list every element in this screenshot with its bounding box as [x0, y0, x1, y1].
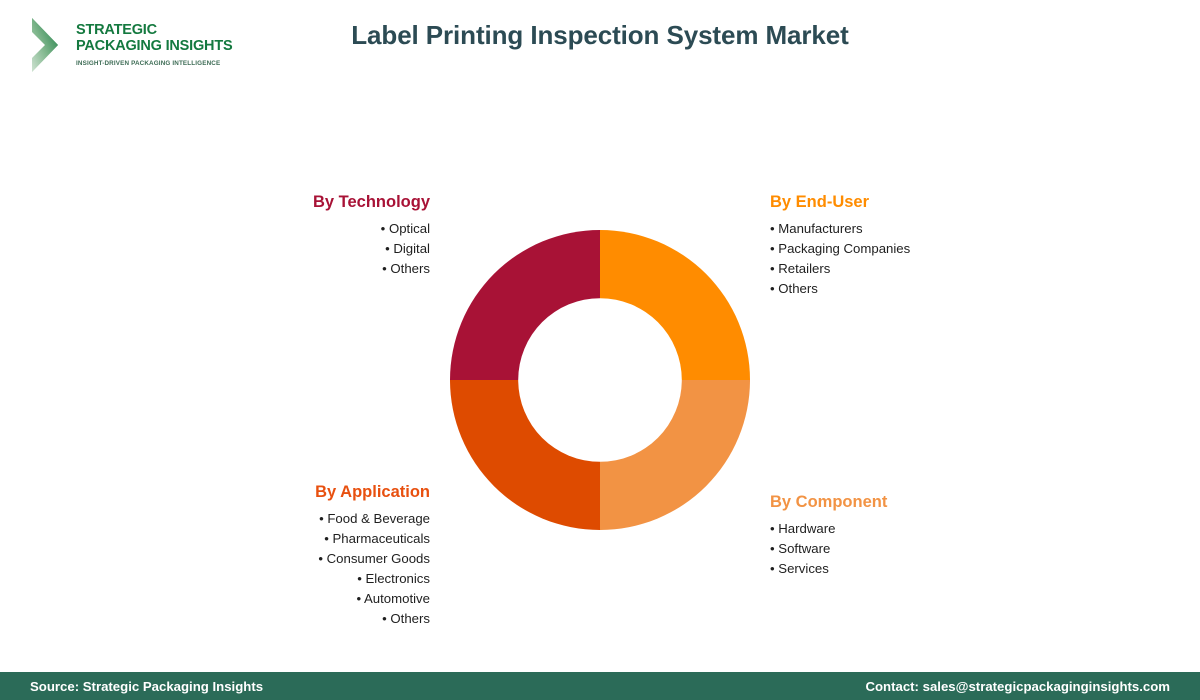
bullet-icon: • — [381, 221, 389, 236]
bullet-icon: • — [324, 531, 332, 546]
segment-item-label: Services — [778, 561, 829, 576]
segment-application-heading: By Application — [180, 483, 430, 502]
segment-technology-list: • Optical• Digital• Others — [180, 219, 430, 279]
segment-technology-item: • Others — [180, 259, 430, 279]
segment-application-item: • Automotive — [180, 589, 430, 609]
segment-component-item: • Hardware — [770, 519, 1070, 539]
footer-source: Source: Strategic Packaging Insights — [30, 679, 263, 694]
segment-application-item: • Pharmaceuticals — [180, 529, 430, 549]
segment-application-item: • Others — [180, 609, 430, 629]
segment-enduser-item: • Manufacturers — [770, 219, 1070, 239]
segment-item-label: Pharmaceuticals — [333, 531, 430, 546]
segment-component-heading: By Component — [770, 493, 1070, 512]
footer-bar: Source: Strategic Packaging Insights Con… — [0, 672, 1200, 700]
segment-component: By Component • Hardware• Software• Servi… — [770, 493, 1070, 579]
segment-component-item: • Services — [770, 559, 1070, 579]
segment-enduser-heading: By End-User — [770, 193, 1070, 212]
segment-component-list: • Hardware• Software• Services — [770, 519, 1070, 579]
segment-component-item: • Software — [770, 539, 1070, 559]
segment-item-label: Food & Beverage — [327, 511, 430, 526]
segment-item-label: Others — [778, 281, 818, 296]
segment-technology-heading: By Technology — [180, 193, 430, 212]
segment-item-label: Optical — [389, 221, 430, 236]
infographic-page: STRATEGIC PACKAGING INSIGHTS INSIGHT-DRI… — [0, 0, 1200, 700]
segment-enduser-item: • Others — [770, 279, 1070, 299]
segment-technology: By Technology • Optical• Digital• Others — [180, 193, 430, 279]
segment-enduser-item: • Retailers — [770, 259, 1070, 279]
segment-application-item: • Electronics — [180, 569, 430, 589]
segment-item-label: Manufacturers — [778, 221, 862, 236]
segment-item-label: Automotive — [364, 591, 430, 606]
segment-item-label: Digital — [393, 241, 430, 256]
segment-item-label: Hardware — [778, 521, 835, 536]
bullet-icon: • — [318, 551, 326, 566]
donut-chart-svg — [450, 230, 750, 530]
segment-application-item: • Food & Beverage — [180, 509, 430, 529]
segment-application: By Application • Food & Beverage• Pharma… — [180, 483, 430, 629]
segment-enduser-list: • Manufacturers• Packaging Companies• Re… — [770, 219, 1070, 299]
segment-technology-item: • Optical — [180, 219, 430, 239]
segment-item-label: Others — [390, 611, 430, 626]
segment-item-label: Others — [390, 261, 430, 276]
donut-center-hole — [518, 298, 682, 462]
donut-chart — [450, 230, 750, 530]
segment-enduser: By End-User • Manufacturers• Packaging C… — [770, 193, 1070, 299]
segment-technology-item: • Digital — [180, 239, 430, 259]
logo-tagline: INSIGHT-DRIVEN PACKAGING INTELLIGENCE — [76, 60, 232, 67]
segment-item-label: Electronics — [366, 571, 431, 586]
page-title: Label Printing Inspection System Market — [0, 20, 1200, 51]
segment-item-label: Consumer Goods — [327, 551, 430, 566]
bullet-icon: • — [356, 591, 364, 606]
segment-item-label: Packaging Companies — [778, 241, 910, 256]
bullet-icon: • — [357, 571, 365, 586]
segment-item-label: Software — [778, 541, 830, 556]
segment-application-item: • Consumer Goods — [180, 549, 430, 569]
footer-contact[interactable]: Contact: sales@strategicpackaginginsight… — [865, 679, 1170, 694]
segment-enduser-item: • Packaging Companies — [770, 239, 1070, 259]
segment-application-list: • Food & Beverage• Pharmaceuticals• Cons… — [180, 509, 430, 629]
segment-item-label: Retailers — [778, 261, 830, 276]
